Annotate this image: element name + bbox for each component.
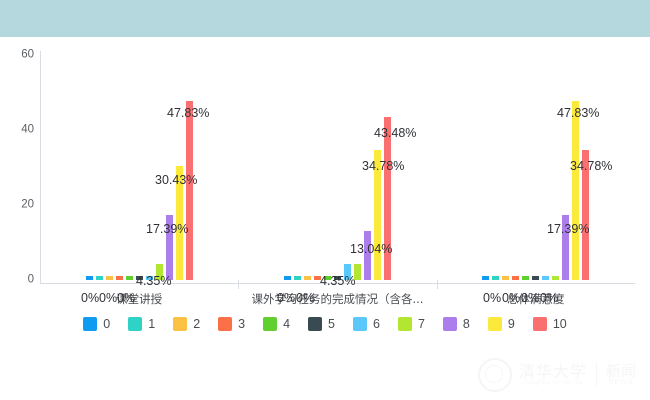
legend-label: 7 xyxy=(418,317,425,331)
legend-swatch-icon xyxy=(128,317,142,331)
bar-value-label: 47.83% xyxy=(167,107,209,120)
legend-label: 5 xyxy=(328,317,335,331)
legend-swatch-icon xyxy=(263,317,277,331)
bar-value-label: 0% xyxy=(296,292,314,305)
bar-group: 课堂讲授 xyxy=(40,55,238,280)
legend-swatch-icon xyxy=(398,317,412,331)
bar-series-7[interactable] xyxy=(552,276,559,280)
bar-group: 课外学习任务的完成情况（含各... xyxy=(238,55,436,280)
legend-swatch-icon xyxy=(488,317,502,331)
legend-swatch-icon xyxy=(218,317,232,331)
x-axis-category-label: 课外学习任务的完成情况（含各... xyxy=(238,291,436,307)
bar-value-label: 0% xyxy=(540,292,558,305)
y-tick-label: 40 xyxy=(4,124,34,136)
chart-legend[interactable]: 012345678910 xyxy=(0,317,650,331)
legend-swatch-icon xyxy=(353,317,367,331)
bar-series-9[interactable] xyxy=(572,101,579,280)
legend-label: 4 xyxy=(283,317,290,331)
bar-series-2[interactable] xyxy=(106,276,113,280)
x-axis-group-divider xyxy=(238,280,239,289)
bar-series-1[interactable] xyxy=(492,276,499,280)
bar-value-label: 43.48% xyxy=(374,127,416,140)
x-axis-category-label: 课堂讲授 xyxy=(40,291,238,307)
bar-series-0[interactable] xyxy=(482,276,489,280)
bar-series-0[interactable] xyxy=(86,276,93,280)
bar-series-2[interactable] xyxy=(304,276,311,280)
bar-series-5[interactable] xyxy=(532,276,539,280)
watermark-divider xyxy=(596,363,597,387)
watermark-section: 新闻 NEWS xyxy=(606,364,636,387)
y-tick-label: 60 xyxy=(4,49,34,61)
legend-swatch-icon xyxy=(173,317,187,331)
legend-label: 6 xyxy=(373,317,380,331)
bar-series-2[interactable] xyxy=(502,276,509,280)
bar-value-label: 30.43% xyxy=(155,174,197,187)
bar-chart: 0204060 课堂讲授课外学习任务的完成情况（含各...总体满意度0%0%0%… xyxy=(0,37,650,400)
watermark-university-cn: 清华大学 xyxy=(519,364,587,381)
bar-value-label: 0% xyxy=(117,292,135,305)
legend-label: 1 xyxy=(148,317,155,331)
watermark: 清华大学 Tsinghua University 新闻 NEWS xyxy=(478,358,636,392)
legend-swatch-icon xyxy=(83,317,97,331)
bar-value-label: 4.35% xyxy=(320,275,355,288)
bar-cluster xyxy=(86,55,193,280)
watermark-section-en: NEWS xyxy=(606,379,636,386)
watermark-university: 清华大学 Tsinghua University xyxy=(519,364,587,387)
bar-series-4[interactable] xyxy=(522,276,529,280)
y-tick-label: 20 xyxy=(4,199,34,211)
bar-value-label: 0% xyxy=(483,292,501,305)
legend-item-5[interactable]: 5 xyxy=(308,317,335,331)
bar-value-label: 4.35% xyxy=(136,275,171,288)
legend-label: 10 xyxy=(553,317,567,331)
legend-label: 3 xyxy=(238,317,245,331)
legend-item-0[interactable]: 0 xyxy=(83,317,110,331)
bar-value-label: 47.83% xyxy=(557,107,599,120)
legend-swatch-icon xyxy=(443,317,457,331)
bar-series-10[interactable] xyxy=(186,101,193,280)
bar-series-3[interactable] xyxy=(512,276,519,280)
bar-series-3[interactable] xyxy=(116,276,123,280)
legend-label: 0 xyxy=(103,317,110,331)
bar-value-label: 34.78% xyxy=(570,160,612,173)
bar-value-label: 17.39% xyxy=(547,223,589,236)
bar-value-label: 13.04% xyxy=(350,243,392,256)
legend-swatch-icon xyxy=(308,317,322,331)
bar-series-4[interactable] xyxy=(126,276,133,280)
legend-label: 2 xyxy=(193,317,200,331)
bar-series-6[interactable] xyxy=(542,276,549,280)
tsinghua-seal-icon xyxy=(478,358,512,392)
legend-item-4[interactable]: 4 xyxy=(263,317,290,331)
legend-item-8[interactable]: 8 xyxy=(443,317,470,331)
bar-value-label: 34.78% xyxy=(362,160,404,173)
legend-item-6[interactable]: 6 xyxy=(353,317,380,331)
legend-label: 9 xyxy=(508,317,515,331)
legend-item-7[interactable]: 7 xyxy=(398,317,425,331)
legend-item-10[interactable]: 10 xyxy=(533,317,567,331)
bar-value-label: 0% xyxy=(521,292,539,305)
bar-series-1[interactable] xyxy=(96,276,103,280)
y-tick-label: 0 xyxy=(4,274,34,286)
top-banner-strip xyxy=(0,0,650,37)
legend-label: 8 xyxy=(463,317,470,331)
bar-value-label: 17.39% xyxy=(146,223,188,236)
watermark-university-en: Tsinghua University xyxy=(519,380,587,386)
watermark-section-cn: 新闻 xyxy=(606,364,636,380)
legend-swatch-icon xyxy=(533,317,547,331)
legend-item-3[interactable]: 3 xyxy=(218,317,245,331)
legend-item-2[interactable]: 2 xyxy=(173,317,200,331)
bar-series-0[interactable] xyxy=(284,276,291,280)
plot-area: 课堂讲授课外学习任务的完成情况（含各...总体满意度0%0%0%4.35%17.… xyxy=(40,55,635,280)
bar-value-label: 0% xyxy=(99,292,117,305)
bar-series-1[interactable] xyxy=(294,276,301,280)
bar-value-label: 0% xyxy=(81,292,99,305)
legend-item-9[interactable]: 9 xyxy=(488,317,515,331)
legend-item-1[interactable]: 1 xyxy=(128,317,155,331)
bar-value-label: 0% xyxy=(502,292,520,305)
y-axis-tick-labels: 0204060 xyxy=(0,55,34,280)
x-axis-group-divider xyxy=(437,280,438,289)
bar-value-label: 0% xyxy=(277,292,295,305)
